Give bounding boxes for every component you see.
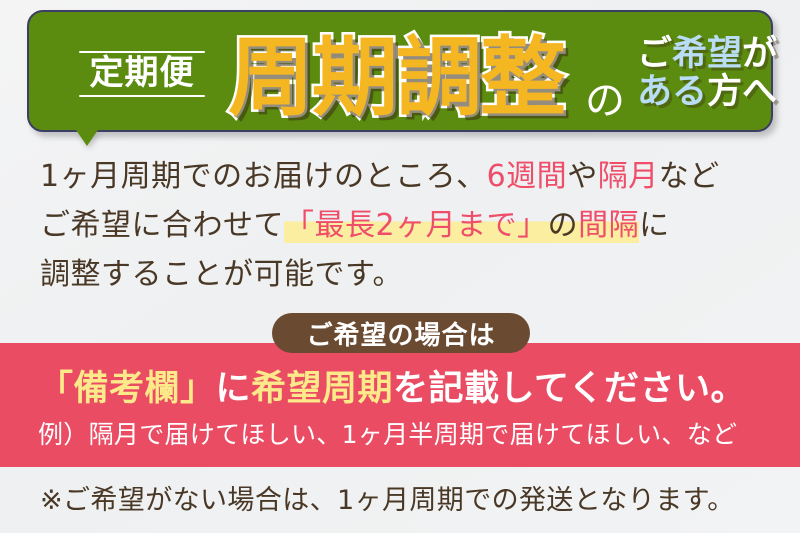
subscription-badge: 定期便 <box>71 42 213 106</box>
instruction-text-desired-cycle: 希望周期 <box>251 369 393 409</box>
instruction-text-please-write: を記載してください。 <box>393 369 746 409</box>
badge-label: 定期便 <box>90 56 195 92</box>
footer-note: ※ご希望がない場合は、1ヶ月周期での発送となります。 <box>40 478 735 517</box>
callout-text-ga: が <box>742 34 777 74</box>
instruction-example: 例）隔月で届けてほしい、1ヶ月半周期で届けてほしい、など <box>38 415 737 451</box>
header-particle: の <box>585 68 625 126</box>
instruction-text-ni: に <box>216 369 252 409</box>
header-title: 周期調整 <box>228 28 564 129</box>
callout-text-kibou: 希望 <box>672 34 742 74</box>
instruction-headline: 「備考欄」に希望周期を記載してください。 <box>38 360 746 411</box>
header-banner: 定期便 周期調整 の ご希望が ある方へ <box>27 10 773 132</box>
callout-text-aru: ある <box>637 72 707 112</box>
request-pill: ご希望の場合は <box>272 313 530 353</box>
body-text-no: の <box>548 208 579 243</box>
body-text-interval: 間隔 <box>578 208 639 243</box>
body-line-1: 1ヶ月周期でのお届けのところ、6週間や隔月など <box>40 152 770 201</box>
callout-text-katahe: 方へ <box>707 72 777 112</box>
body-text-nado: など <box>659 159 720 194</box>
body-text-ya: や <box>567 159 598 194</box>
body-line-3: 調整することが可能です。 <box>40 250 770 299</box>
body-text-normal: 1ヶ月周期でのお届けのところ、 <box>40 159 487 194</box>
header-callout-line2: ある方へ <box>637 74 797 112</box>
body-paragraph: 1ヶ月周期でのお届けのところ、6週間や隔月など ご希望に合わせて「最長2ヶ月まで… <box>40 152 770 299</box>
instruction-band: 「備考欄」に希望周期を記載してください。 例）隔月で届けてほしい、1ヶ月半周期で… <box>0 343 800 467</box>
body-text-bimonthly: 隔月 <box>598 159 659 194</box>
request-pill-label: ご希望の場合は <box>306 315 495 352</box>
badge-rule-bottom <box>79 95 205 97</box>
speech-bubble-tail <box>76 130 98 146</box>
body-text-max-two-months: 「最長2ヶ月まで」 <box>284 208 548 243</box>
header-callout-line1: ご希望が <box>637 36 797 74</box>
body-line-2: ご希望に合わせて「最長2ヶ月まで」の間隔に <box>40 201 770 250</box>
callout-text-go: ご <box>637 34 672 74</box>
header-callout: ご希望が ある方へ <box>637 36 797 112</box>
body-text-request: ご希望に合わせて <box>40 208 284 243</box>
body-text-six-weeks: 6週間 <box>487 159 568 194</box>
instruction-text-remarks: 「備考欄」 <box>38 369 216 409</box>
body-text-ni: に <box>639 208 670 243</box>
